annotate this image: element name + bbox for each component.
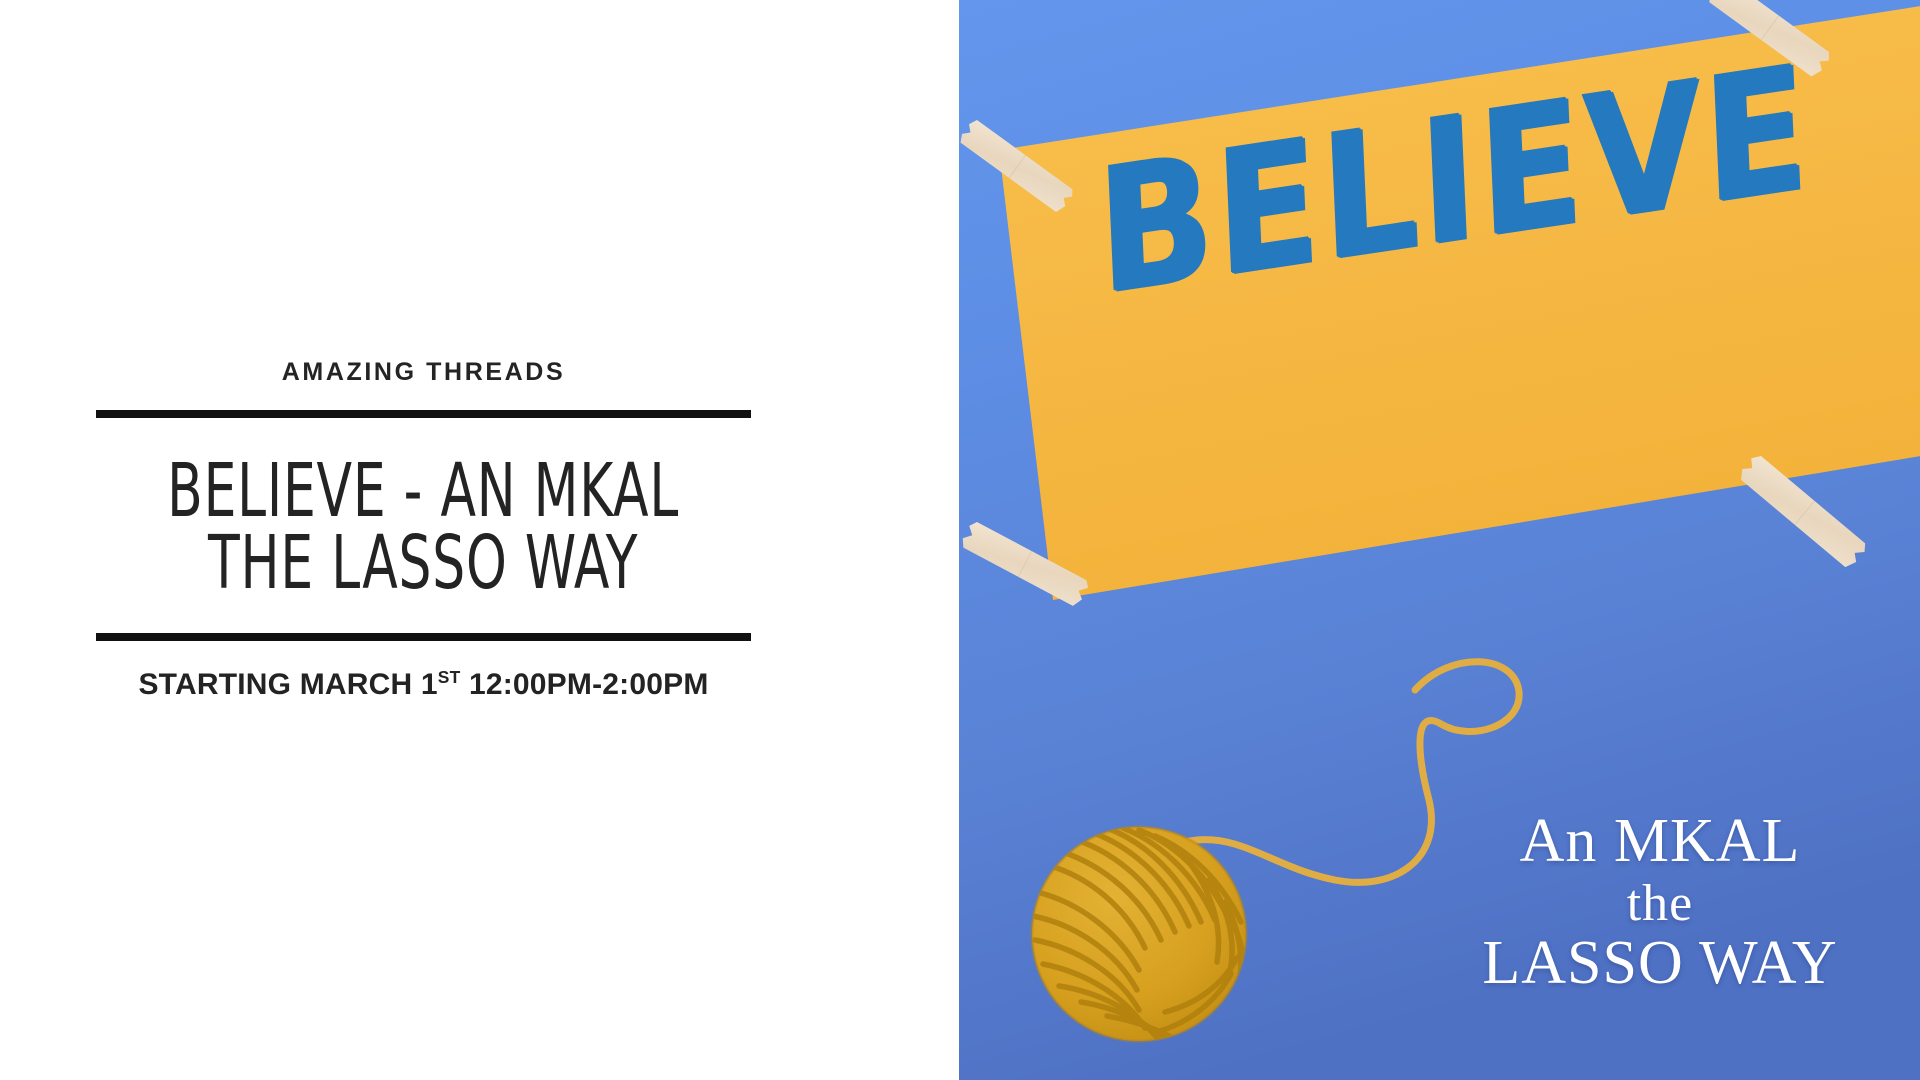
event-datetime: STARTING MARCH 1ST 12:00PM-2:00PM	[138, 667, 708, 702]
page-title: BELIEVE - AN MKAL THE LASSO WAY	[168, 418, 680, 632]
divider-rule-top	[96, 410, 751, 418]
date-ordinal-suffix: ST	[438, 667, 461, 687]
headline-line-1: BELIEVE - AN MKAL	[168, 456, 680, 527]
right-image-panel: BELIEVE An MKAL the LASSO WAY	[959, 0, 1920, 1080]
divider-rule-bottom	[96, 633, 751, 641]
brand-eyebrow: AMAZING THREADS	[282, 358, 565, 387]
poster-canvas: AMAZING THREADS BELIEVE - AN MKAL THE LA…	[0, 0, 1920, 1080]
event-date-prefix: STARTING MARCH 1	[138, 668, 437, 701]
left-text-panel: AMAZING THREADS BELIEVE - AN MKAL THE LA…	[0, 0, 959, 1080]
poster-artwork	[959, 0, 1920, 1080]
headline-line-2: THE LASSO WAY	[168, 528, 680, 599]
text-stack: AMAZING THREADS BELIEVE - AN MKAL THE LA…	[96, 358, 751, 701]
event-time-range: 12:00PM-2:00PM	[460, 668, 708, 701]
